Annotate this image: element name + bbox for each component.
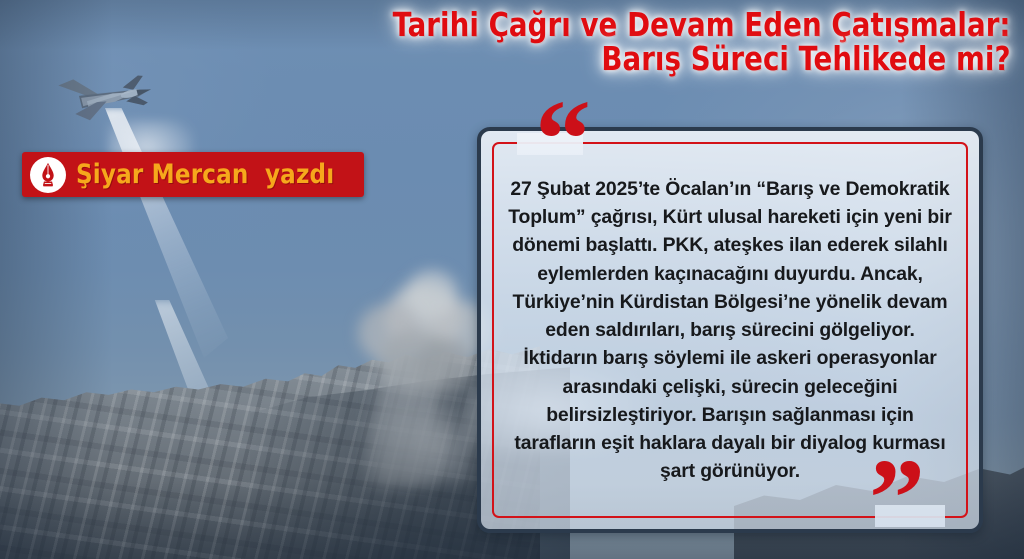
author-name: Şiyar Mercan yazdı (76, 159, 334, 190)
quote-card: 27 Şubat 2025’te Öcalan’ın “Barış ve Dem… (477, 127, 983, 533)
accent-frame-gap-top (517, 133, 583, 155)
fountain-pen-nib-icon (30, 157, 66, 193)
accent-frame-gap-bottom (875, 505, 945, 527)
news-graphic: Tarihi Çağrı ve Devam Eden Çatışmalar: B… (0, 0, 1024, 559)
quote-text: 27 Şubat 2025’te Öcalan’ın “Barış ve Dem… (507, 175, 953, 486)
author-badge[interactable]: Şiyar Mercan yazdı (22, 152, 364, 197)
